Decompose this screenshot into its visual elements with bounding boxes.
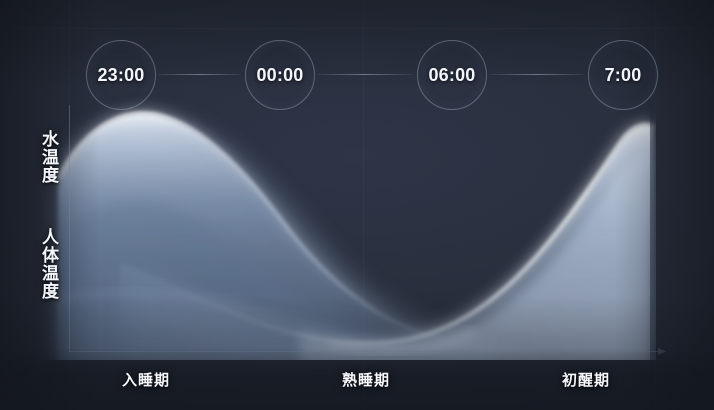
time-node-label: 06:00: [428, 65, 475, 86]
x-axis-label-1: 入睡期: [122, 369, 170, 390]
timeline-connector-2: [317, 74, 413, 75]
time-node-label: 7:00: [605, 65, 642, 86]
time-node-label: 00:00: [256, 65, 303, 86]
y-axis-label-2: 人体温度: [36, 228, 61, 300]
time-node-00-00[interactable]: 00:00: [245, 40, 315, 110]
x-axis-label-3: 初醒期: [562, 369, 610, 390]
time-node-23-00[interactable]: 23:00: [86, 40, 156, 110]
timeline-connector-3: [489, 74, 584, 75]
sleep-temperature-figure: 23:0000:0006:007:00 水温度人体温度 入睡期熟睡期初醒期: [0, 0, 714, 410]
time-node-06-00[interactable]: 06:00: [417, 40, 487, 110]
y-axis-label-1: 水温度: [36, 130, 61, 184]
x-axis-label-2: 熟睡期: [342, 369, 390, 390]
timeline-connector-1: [158, 74, 241, 75]
time-node-label: 23:00: [97, 65, 144, 86]
time-node-7-00[interactable]: 7:00: [588, 40, 658, 110]
